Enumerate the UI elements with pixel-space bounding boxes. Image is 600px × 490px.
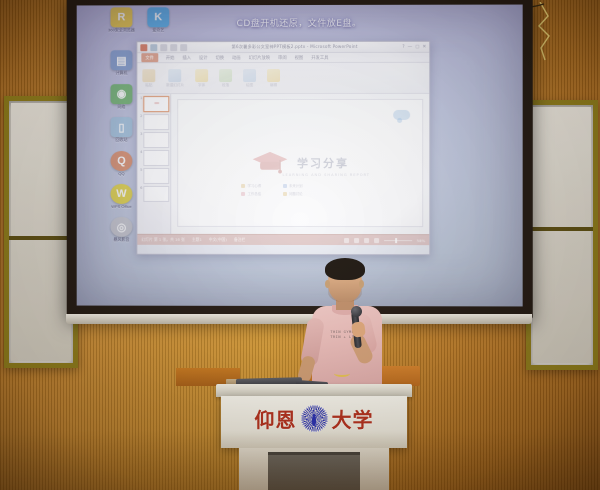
speaker-ear-left xyxy=(325,280,330,288)
recycle-bin-icon: ▯ xyxy=(110,117,132,137)
ppt-ribbon[interactable]: 粘贴 新建幻灯片 字体 段落 xyxy=(137,63,429,94)
ribbon-group-label: 粘贴 xyxy=(145,83,152,88)
slide-subtitle-text: LEARNING AND SHARING REPORT xyxy=(283,173,371,177)
projection-screen[interactable]: R 360安全浏览器 ▤ 计算机 ◉ 网络 ▯ 回收站 Q QQ xyxy=(77,5,523,307)
bullet-label: 问题讨论 xyxy=(289,191,303,196)
thumbnail-row[interactable]: 3 xyxy=(138,132,169,148)
ribbon-group-editing[interactable]: 编辑 xyxy=(267,69,280,88)
normal-view-icon[interactable] xyxy=(344,238,349,243)
slide-thumbnail-panel[interactable]: 1 2 3 4 xyxy=(137,94,171,234)
ribbon-group-drawing[interactable]: 绘图 xyxy=(243,69,256,88)
speaker-face-shading xyxy=(328,280,362,302)
new-slide-icon xyxy=(169,69,182,82)
paragraph-icon xyxy=(219,69,232,82)
tab-home[interactable]: 开始 xyxy=(166,55,175,61)
tab-transitions[interactable]: 切换 xyxy=(215,55,224,61)
tab-animations[interactable]: 动画 xyxy=(232,55,241,61)
slide-bullet-column-left: 学习心得 工作总结 xyxy=(241,183,261,196)
tab-slideshow[interactable]: 幻灯片放映 xyxy=(249,55,270,61)
notes-button[interactable]: 备注栏 xyxy=(234,237,245,243)
cloud-decoration-icon xyxy=(393,110,410,120)
thumbnail-row[interactable]: 4 xyxy=(138,150,169,166)
zoom-level: 58% xyxy=(417,238,425,243)
zoom-slider[interactable] xyxy=(384,240,412,241)
whiteboard-divider-right xyxy=(531,227,593,231)
university-name-left: 仰恩 xyxy=(255,404,297,433)
ppt-document-title: 第6次暑多彩公文室神PPT模板2.pptx - Microsoft PowerP… xyxy=(190,44,399,50)
speaker-figure: THIN GYMBOL TRIN + LIFE xyxy=(302,258,398,388)
thumbnail-number: 3 xyxy=(138,132,142,136)
thumbnail-row[interactable]: 6 xyxy=(138,186,169,202)
qq-penguin-icon: Q xyxy=(110,151,132,171)
slide-bullet: 未来计划 xyxy=(283,183,303,188)
thumbnail-slide-6[interactable] xyxy=(143,186,169,202)
ppt-ribbon-tabs[interactable]: 文件 开始 插入 设计 切换 动画 幻灯片放映 审阅 视图 开发工具 xyxy=(137,53,429,63)
slideshow-icon[interactable] xyxy=(180,44,187,51)
shirt-banana-graphic-icon xyxy=(334,370,350,377)
editing-icon xyxy=(267,69,280,82)
projector-overlay-note: CD盘开机还原，文件放E盘。 xyxy=(77,16,523,30)
slide-sorter-icon[interactable] xyxy=(354,238,359,243)
redo-icon[interactable] xyxy=(170,44,177,51)
drawing-icon xyxy=(243,69,256,82)
ribbon-group-paste[interactable]: 粘贴 xyxy=(142,69,155,88)
tab-developer[interactable]: 开发工具 xyxy=(311,54,328,60)
ribbon-group-label: 绘图 xyxy=(246,83,253,88)
speaker-ear-right xyxy=(359,280,364,288)
bullet-marker-icon xyxy=(283,184,287,188)
thumbnail-slide-5[interactable] xyxy=(143,168,169,184)
undo-icon[interactable] xyxy=(160,44,167,51)
thumbnail-preview xyxy=(154,102,159,104)
slide-editing-area[interactable]: 学习分享 LEARNING AND SHARING REPORT 学习心得 xyxy=(171,94,429,234)
paste-icon xyxy=(142,69,155,82)
thumbnail-row[interactable]: 1 xyxy=(138,96,169,112)
screen-bottom-lip xyxy=(66,314,532,324)
ppt-workspace: 1 2 3 4 xyxy=(137,94,429,234)
projection-screen-frame: R 360安全浏览器 ▤ 计算机 ◉ 网络 ▯ 回收站 Q QQ xyxy=(67,0,533,319)
ribbon-group-paragraph[interactable]: 段落 xyxy=(219,69,232,88)
wps-office-icon: W xyxy=(110,184,132,204)
thumbnail-number: 6 xyxy=(138,186,142,190)
floor-shading xyxy=(0,430,600,490)
ribbon-group-label: 段落 xyxy=(222,83,229,88)
slide-bullet-group: 学习心得 工作总结 xyxy=(241,183,302,196)
bullet-label: 未来计划 xyxy=(289,183,303,188)
maximize-icon[interactable]: ▢ xyxy=(415,44,419,49)
ppt-title-bar: 第6次暑多彩公文室神PPT模板2.pptx - Microsoft PowerP… xyxy=(137,42,429,53)
slide-title-text: 学习分享 xyxy=(297,155,349,171)
whiteboard-panel-right xyxy=(526,100,598,370)
ribbon-group-new-slide[interactable]: 新建幻灯片 xyxy=(166,69,184,88)
microphone-head-icon xyxy=(351,306,362,317)
tab-file[interactable]: 文件 xyxy=(141,53,158,62)
thumbnail-row[interactable]: 2 xyxy=(138,114,169,130)
ribbon-group-font[interactable]: 字体 xyxy=(195,69,208,88)
bullet-marker-icon xyxy=(241,192,245,196)
tab-insert[interactable]: 插入 xyxy=(182,55,191,61)
thumbnail-number: 2 xyxy=(138,114,142,118)
ppt-status-bar[interactable]: 幻灯片 第 1 张，共 16 张 主题1 中文(中国) 备注栏 58% xyxy=(137,234,429,245)
slideshow-view-icon[interactable] xyxy=(374,238,379,243)
slide-counter: 幻灯片 第 1 张，共 16 张 xyxy=(141,237,184,243)
thumbnail-slide-4[interactable] xyxy=(143,150,169,166)
thumbnail-row[interactable]: 5 xyxy=(138,168,169,184)
speaker-hand-right xyxy=(351,321,366,338)
thumbnail-slide-1[interactable] xyxy=(143,96,169,112)
bullet-label: 学习心得 xyxy=(247,183,261,188)
save-icon[interactable] xyxy=(150,44,157,51)
thumbnail-slide-2[interactable] xyxy=(143,114,169,130)
slide-bullet: 问题讨论 xyxy=(283,191,303,196)
slide-bullet: 学习心得 xyxy=(241,183,261,188)
lecture-hall-photo: R 360安全浏览器 ▤ 计算机 ◉ 网络 ▯ 回收站 Q QQ xyxy=(0,0,600,490)
computer-icon: ▤ xyxy=(110,51,132,71)
media-player-icon: ◎ xyxy=(110,217,132,237)
thumbnail-number: 5 xyxy=(138,168,142,172)
ribbon-group-label: 新建幻灯片 xyxy=(166,83,184,88)
tab-view[interactable]: 视图 xyxy=(295,54,304,60)
ribbon-group-label: 编辑 xyxy=(270,83,277,88)
university-name-right: 大学 xyxy=(332,404,374,433)
tab-review[interactable]: 审阅 xyxy=(278,55,287,61)
bullet-marker-icon xyxy=(241,184,245,188)
minimize-icon[interactable]: — xyxy=(408,44,413,49)
font-icon xyxy=(195,69,208,82)
whiteboard-divider-left xyxy=(9,236,73,240)
tab-design[interactable]: 设计 xyxy=(199,55,208,61)
university-emblem-icon xyxy=(301,405,328,432)
podium-branding: 仰恩 大学 xyxy=(221,404,407,433)
help-icon[interactable]: ? xyxy=(402,44,404,49)
bullet-marker-icon xyxy=(283,192,287,196)
window-controls[interactable]: ? — ▢ ✕ xyxy=(402,44,426,49)
whiteboard-surface-left xyxy=(11,103,71,361)
thumbnail-number: 4 xyxy=(138,150,142,154)
slide-canvas[interactable]: 学习分享 LEARNING AND SHARING REPORT 学习心得 xyxy=(177,99,423,227)
bullet-label: 工作总结 xyxy=(247,191,261,196)
whiteboard-surface-right xyxy=(533,107,591,363)
speaker-hair xyxy=(325,258,365,280)
language-indicator[interactable]: 中文(中国) xyxy=(209,237,227,243)
status-right-controls[interactable]: 58% xyxy=(344,238,426,243)
slide-bullet-column-right: 未来计划 问题讨论 xyxy=(283,183,303,196)
network-icon: ◉ xyxy=(110,84,132,104)
reading-view-icon[interactable] xyxy=(364,238,369,243)
thumbnail-slide-3[interactable] xyxy=(143,132,169,148)
theme-name[interactable]: 主题1 xyxy=(192,237,202,243)
powerpoint-window[interactable]: 第6次暑多彩公文室神PPT模板2.pptx - Microsoft PowerP… xyxy=(136,41,430,255)
thumbnail-number: 1 xyxy=(138,96,142,100)
slide-bullet: 工作总结 xyxy=(241,191,261,196)
ribbon-group-label: 字体 xyxy=(198,83,205,88)
close-icon[interactable]: ✕ xyxy=(422,44,426,49)
powerpoint-app-icon xyxy=(140,44,147,51)
